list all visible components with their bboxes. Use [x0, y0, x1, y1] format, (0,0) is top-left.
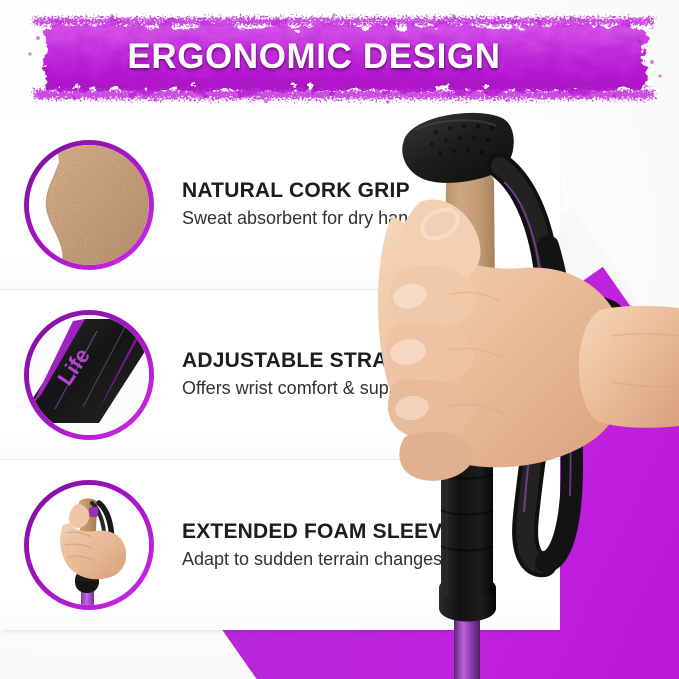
feature-title: EXTENDED FOAM SLEEVE	[182, 520, 493, 544]
infographic-poster: ERGONOMIC DESIGN	[0, 0, 679, 679]
feature-card-adjustable-strap: Life ADJUSTABLE STRAP Offers wrist comfo…	[0, 290, 560, 460]
feature-description: Offers wrist comfort & support	[182, 377, 420, 400]
feature-text-block: NATURAL CORK GRIP Sweat absorbent for dr…	[182, 179, 427, 230]
feature-text-block: EXTENDED FOAM SLEEVE Adapt to sudden ter…	[182, 520, 493, 571]
cork-grip-closeup-thumbnail	[24, 140, 154, 270]
header-banner: ERGONOMIC DESIGN	[16, 12, 664, 104]
foam-sleeve-thumbnail	[24, 480, 154, 610]
hand-on-foam-sleeve-image	[29, 485, 149, 605]
adjustable-strap-thumbnail: Life	[24, 310, 154, 440]
cork-texture-image	[29, 145, 149, 265]
feature-card-natural-cork-grip: NATURAL CORK GRIP Sweat absorbent for dr…	[0, 120, 560, 290]
feature-card-list: NATURAL CORK GRIP Sweat absorbent for dr…	[0, 120, 560, 630]
page-title: ERGONOMIC DESIGN	[16, 37, 664, 77]
feature-description: Sweat absorbent for dry hands	[182, 207, 427, 230]
strap-closeup-image: Life	[29, 315, 149, 435]
feature-card-extended-foam-sleeve: EXTENDED FOAM SLEEVE Adapt to sudden ter…	[0, 460, 560, 630]
feature-description: Adapt to sudden terrain changes easily	[182, 548, 493, 571]
feature-text-block: ADJUSTABLE STRAP Offers wrist comfort & …	[182, 349, 420, 400]
feature-title: NATURAL CORK GRIP	[182, 179, 427, 203]
feature-title: ADJUSTABLE STRAP	[182, 349, 420, 373]
